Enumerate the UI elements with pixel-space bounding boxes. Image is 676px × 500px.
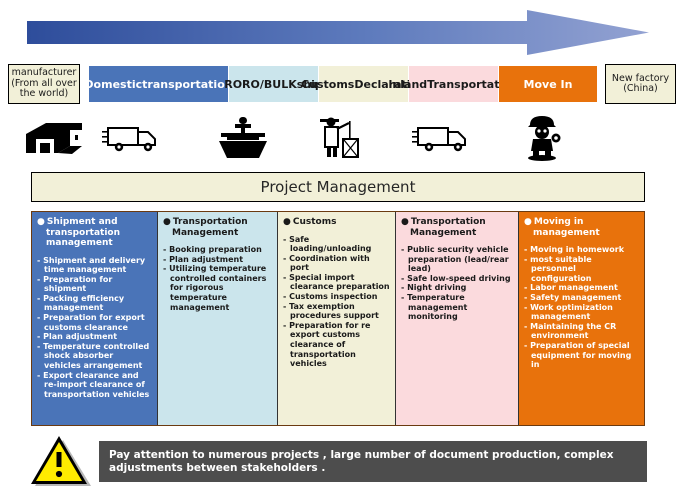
stage-cell-label: Inland	[388, 78, 427, 91]
list-item: Work optimization management	[524, 303, 639, 322]
stage-cell-3[interactable]: InlandTransportation	[409, 66, 499, 102]
truck-icon-2	[408, 112, 478, 164]
detail-column-list: Safe loading/unloadingCoordination with …	[283, 235, 390, 369]
detail-column-4[interactable]: ●Moving in managementMoving in homeworkm…	[519, 212, 644, 425]
detail-column-list: Booking preparationPlan adjustmentUtiliz…	[163, 245, 272, 312]
list-item: Temperature management monitoring	[401, 293, 513, 322]
list-item: Safety management	[524, 293, 639, 303]
detail-column-2[interactable]: ●CustomsSafe loading/unloadingCoordinati…	[278, 212, 396, 425]
bullet-dot-icon: ●	[524, 217, 534, 227]
list-item: Preparation for re export customs cleara…	[283, 321, 390, 369]
detail-column-title: ●Customs	[283, 217, 390, 228]
list-item: Special import clearance preparation	[283, 273, 390, 292]
detail-column-1[interactable]: ●Transportation ManagementBooking prepar…	[158, 212, 278, 425]
list-item: Moving in homework	[524, 245, 639, 255]
list-item: Export clearance and re-import clearance…	[37, 371, 152, 400]
list-item: Utilizing temperature controlled contain…	[163, 264, 272, 312]
project-management-title: Project Management	[261, 178, 416, 196]
detail-columns: ●Shipment and transportation managementS…	[31, 211, 645, 426]
list-item: Customs inspection	[283, 292, 390, 302]
warning-footer: Pay attention to numerous projects , lar…	[0, 432, 676, 488]
warning-message-bar: Pay attention to numerous projects , lar…	[99, 441, 647, 482]
process-flow-arrow	[27, 10, 649, 55]
detail-column-title: ●Transportation Management	[163, 217, 272, 238]
list-item: Preparation for shipment	[37, 275, 152, 294]
cargo-ship-icon	[208, 112, 278, 164]
bullet-dot-icon: ●	[37, 217, 47, 227]
list-item: Packing efficiency management	[37, 294, 152, 313]
stage-cell-label: Domestic	[84, 78, 142, 91]
stage-cell-label: RORO/BULK	[224, 78, 297, 91]
flow-arrow-shape	[27, 10, 649, 55]
detail-column-list: Shipment and delivery time managementPre…	[37, 256, 152, 400]
stage-cell-label: Customs	[301, 78, 354, 91]
customs-officer-icon	[308, 112, 378, 164]
warning-triangle-icon	[29, 434, 93, 488]
detail-column-list: Moving in homeworkmost suitable personne…	[524, 245, 639, 370]
list-item: Night driving	[401, 283, 513, 293]
list-item: Public security vehicle preparation (lea…	[401, 245, 513, 274]
bullet-dot-icon: ●	[401, 217, 411, 227]
detail-column-title: ●Moving in management	[524, 217, 639, 238]
list-item: Preparation of special equipment for mov…	[524, 341, 639, 370]
worker-icon	[510, 112, 580, 164]
list-item: Labor management	[524, 283, 639, 293]
stage-cell-label: transportation	[142, 78, 232, 91]
stage-end-new-factory: New factory (China)	[605, 64, 676, 104]
stage-cell-4[interactable]: Move In	[499, 66, 597, 102]
detail-column-0[interactable]: ●Shipment and transportation managementS…	[32, 212, 158, 425]
detail-column-3[interactable]: ●Transportation ManagementPublic securit…	[396, 212, 519, 425]
stage-bar: manufacturer (From all over the world) D…	[4, 64, 672, 104]
warning-line-1: Pay attention to numerous projects , lar…	[109, 449, 614, 462]
stage-cell-0[interactable]: Domestictransportation	[89, 66, 229, 102]
project-management-band: Project Management	[31, 172, 645, 202]
list-item: Safe low-speed driving	[401, 274, 513, 284]
stage-start-manufacturer: manufacturer (From all over the world)	[8, 64, 80, 104]
detail-column-title: ●Shipment and transportation management	[37, 217, 152, 249]
detail-column-list: Public security vehicle preparation (lea…	[401, 245, 513, 322]
list-item: Preparation for export customs clearance	[37, 313, 152, 332]
bullet-dot-icon: ●	[283, 217, 293, 227]
list-item: Safe loading/unloading	[283, 235, 390, 254]
new-factory-line-2: (China)	[623, 84, 658, 95]
warehouse-icon	[20, 112, 90, 164]
stage-strip: DomestictransportationRORO/BULKshipCusto…	[89, 66, 597, 102]
warning-line-2: adjustments between stakeholders .	[109, 462, 614, 475]
pictogram-row	[0, 112, 676, 164]
list-item: Plan adjustment	[37, 332, 152, 342]
list-item: Shipment and delivery time management	[37, 256, 152, 275]
manufacturer-line-3: the world)	[20, 89, 68, 100]
bullet-dot-icon: ●	[163, 217, 173, 227]
list-item: Plan adjustment	[163, 255, 272, 265]
list-item: most suitable personnel configuration	[524, 255, 639, 284]
list-item: Booking preparation	[163, 245, 272, 255]
list-item: Tax exemption procedures support	[283, 302, 390, 321]
list-item: Temperature controlled shock absorber ve…	[37, 342, 152, 371]
stage-cell-label: Move In	[524, 78, 573, 91]
truck-icon	[98, 112, 168, 164]
list-item: Maintaining the CR environment	[524, 322, 639, 341]
detail-column-title: ●Transportation Management	[401, 217, 513, 238]
list-item: Coordination with port	[283, 254, 390, 273]
